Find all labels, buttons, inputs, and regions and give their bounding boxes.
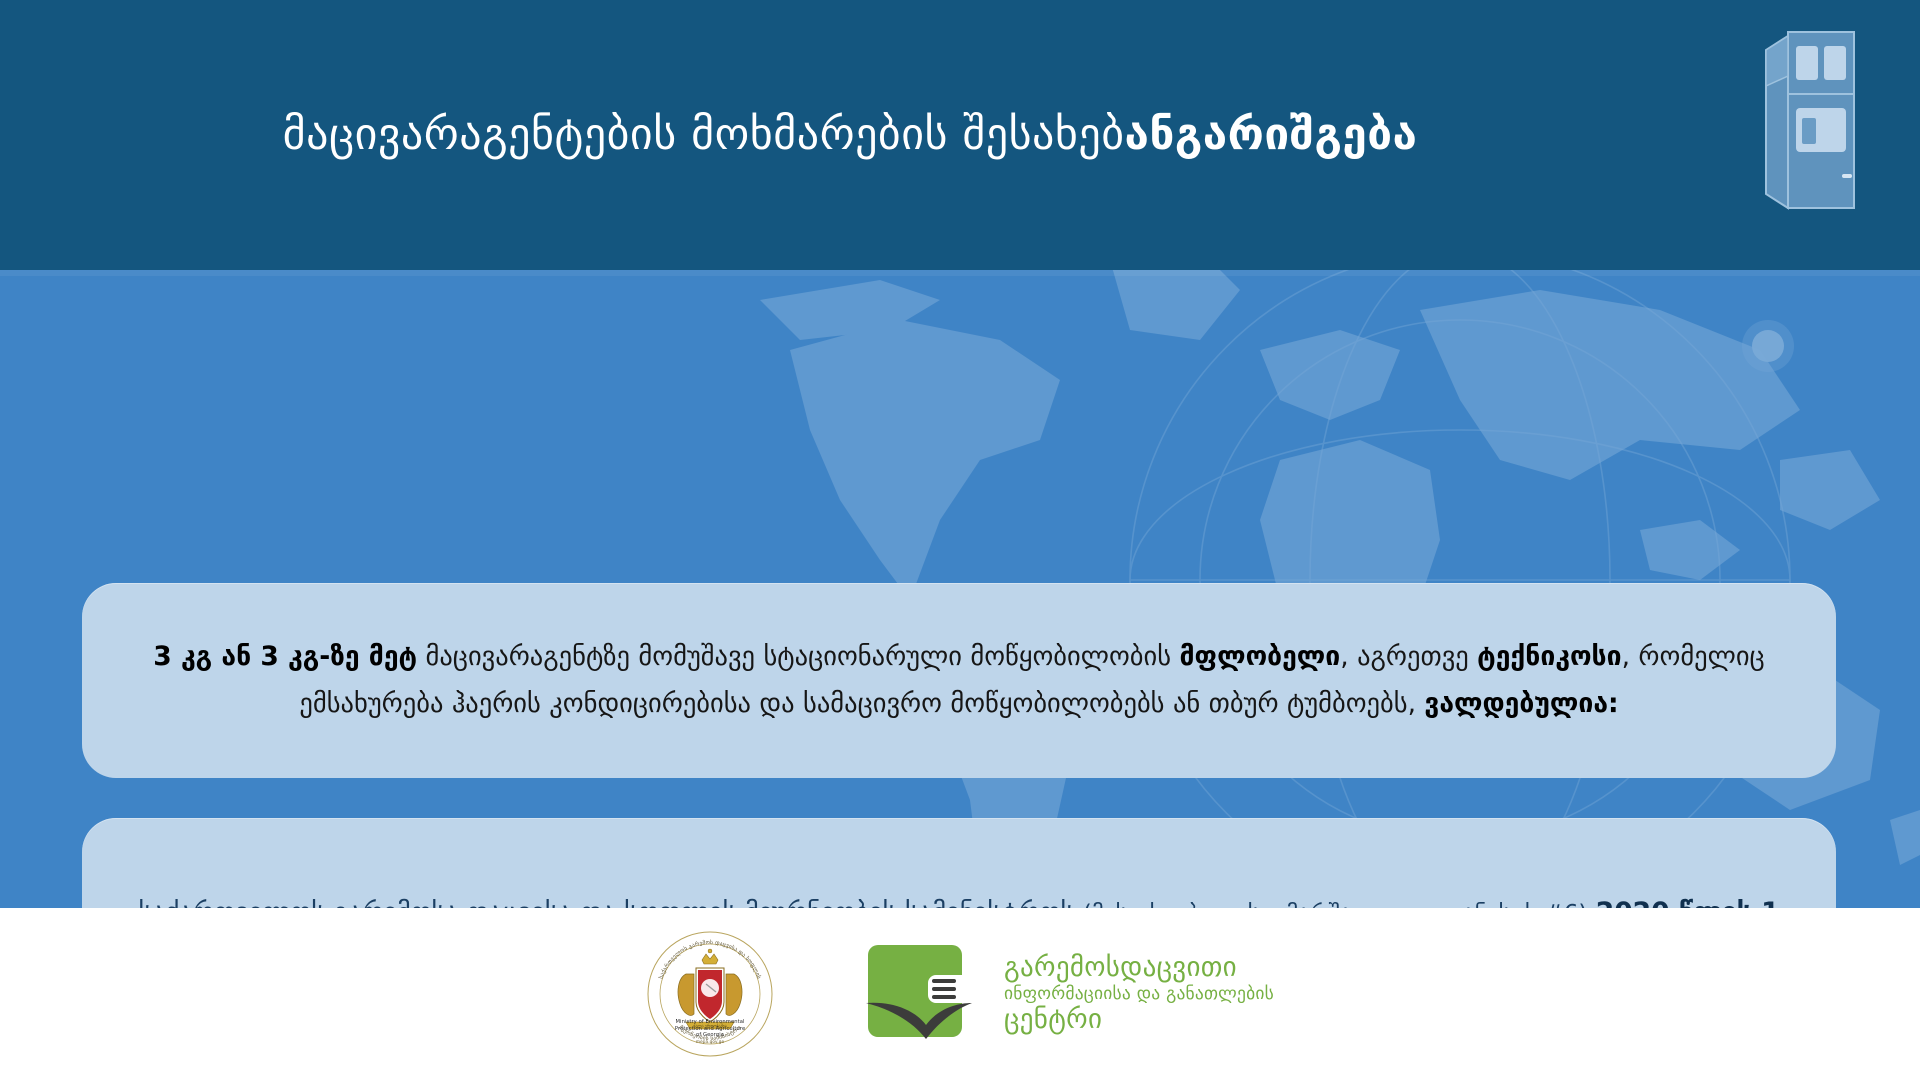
page-title: მაცივარაგენტების მოხმარების შესახებ ანგა… xyxy=(0,0,1760,270)
eiec-logo: გარემოსდაცვითი ინფორმაციისა და განათლები… xyxy=(860,939,1274,1049)
deadline-card-text: საქართველოს გარემოსა დაცვისა და სოფლის მ… xyxy=(122,889,1796,908)
deadline-card: საქართველოს გარემოსა დაცვისა და სოფლის მ… xyxy=(82,818,1836,908)
eiec-line-3: ცენტრი xyxy=(1004,1004,1274,1036)
card1-seg-4: ტექნიკოსი xyxy=(1477,641,1621,672)
ministry-en-line-4: mepa.gov.ge xyxy=(646,1039,774,1044)
card1-seg-6: ვალდებულია: xyxy=(1424,688,1618,719)
card1-seg-2: მფლობელი xyxy=(1179,641,1340,672)
eiec-logo-mark xyxy=(860,939,988,1049)
card2-seg-0: საქართველოს გარემოსა დაცვისა და სოფლის მ… xyxy=(138,897,1082,908)
card1-seg-0: 3 კგ ან 3 კგ-ზე მეტ xyxy=(153,641,417,672)
ministry-emblem-logo: საქართველოს გარემოს დაცვისა და სოფლის მე… xyxy=(646,930,774,1058)
eiec-line-2: ინფორმაციისა და განათლების xyxy=(1004,984,1274,1005)
card1-seg-1: მაცივარაგენტზე მომუშავე სტაციონარული მოწ… xyxy=(417,641,1179,672)
page-title-bold: ანგარიშგება xyxy=(1125,110,1418,161)
card1-seg-3: , აგრეთვე xyxy=(1340,641,1477,672)
card2-address: (მის: ქ. თბილისი, მარშალ გელოვანის ქ. #6… xyxy=(1083,901,1588,908)
refrigerator-icon xyxy=(1758,26,1876,214)
requirement-card: 3 კგ ან 3 კგ-ზე მეტ მაცივარაგენტზე მომუშ… xyxy=(82,583,1836,778)
slide-footer: საქართველოს გარემოს დაცვისა და სოფლის მე… xyxy=(0,908,1920,1080)
requirement-card-text: 3 კგ ან 3 კგ-ზე მეტ მაცივარაგენტზე მომუშ… xyxy=(152,634,1766,726)
ministry-emblem-english-text: Ministry of Environmental Protection and… xyxy=(646,1019,774,1044)
card2-seg-2 xyxy=(1587,897,1595,908)
slide-header: მაცივარაგენტების მოხმარების შესახებ ანგა… xyxy=(0,0,1920,270)
content-band: 3 კგ ან 3 კგ-ზე მეტ მაცივარაგენტზე მომუშ… xyxy=(0,270,1920,908)
slide: მაცივარაგენტების მოხმარების შესახებ ანგა… xyxy=(0,0,1920,1080)
page-title-normal: მაცივარაგენტების მოხმარების შესახებ xyxy=(283,110,1125,161)
eiec-logo-text: გარემოსდაცვითი ინფორმაციისა და განათლები… xyxy=(1004,952,1274,1036)
eiec-line-1: გარემოსდაცვითი xyxy=(1004,952,1274,984)
